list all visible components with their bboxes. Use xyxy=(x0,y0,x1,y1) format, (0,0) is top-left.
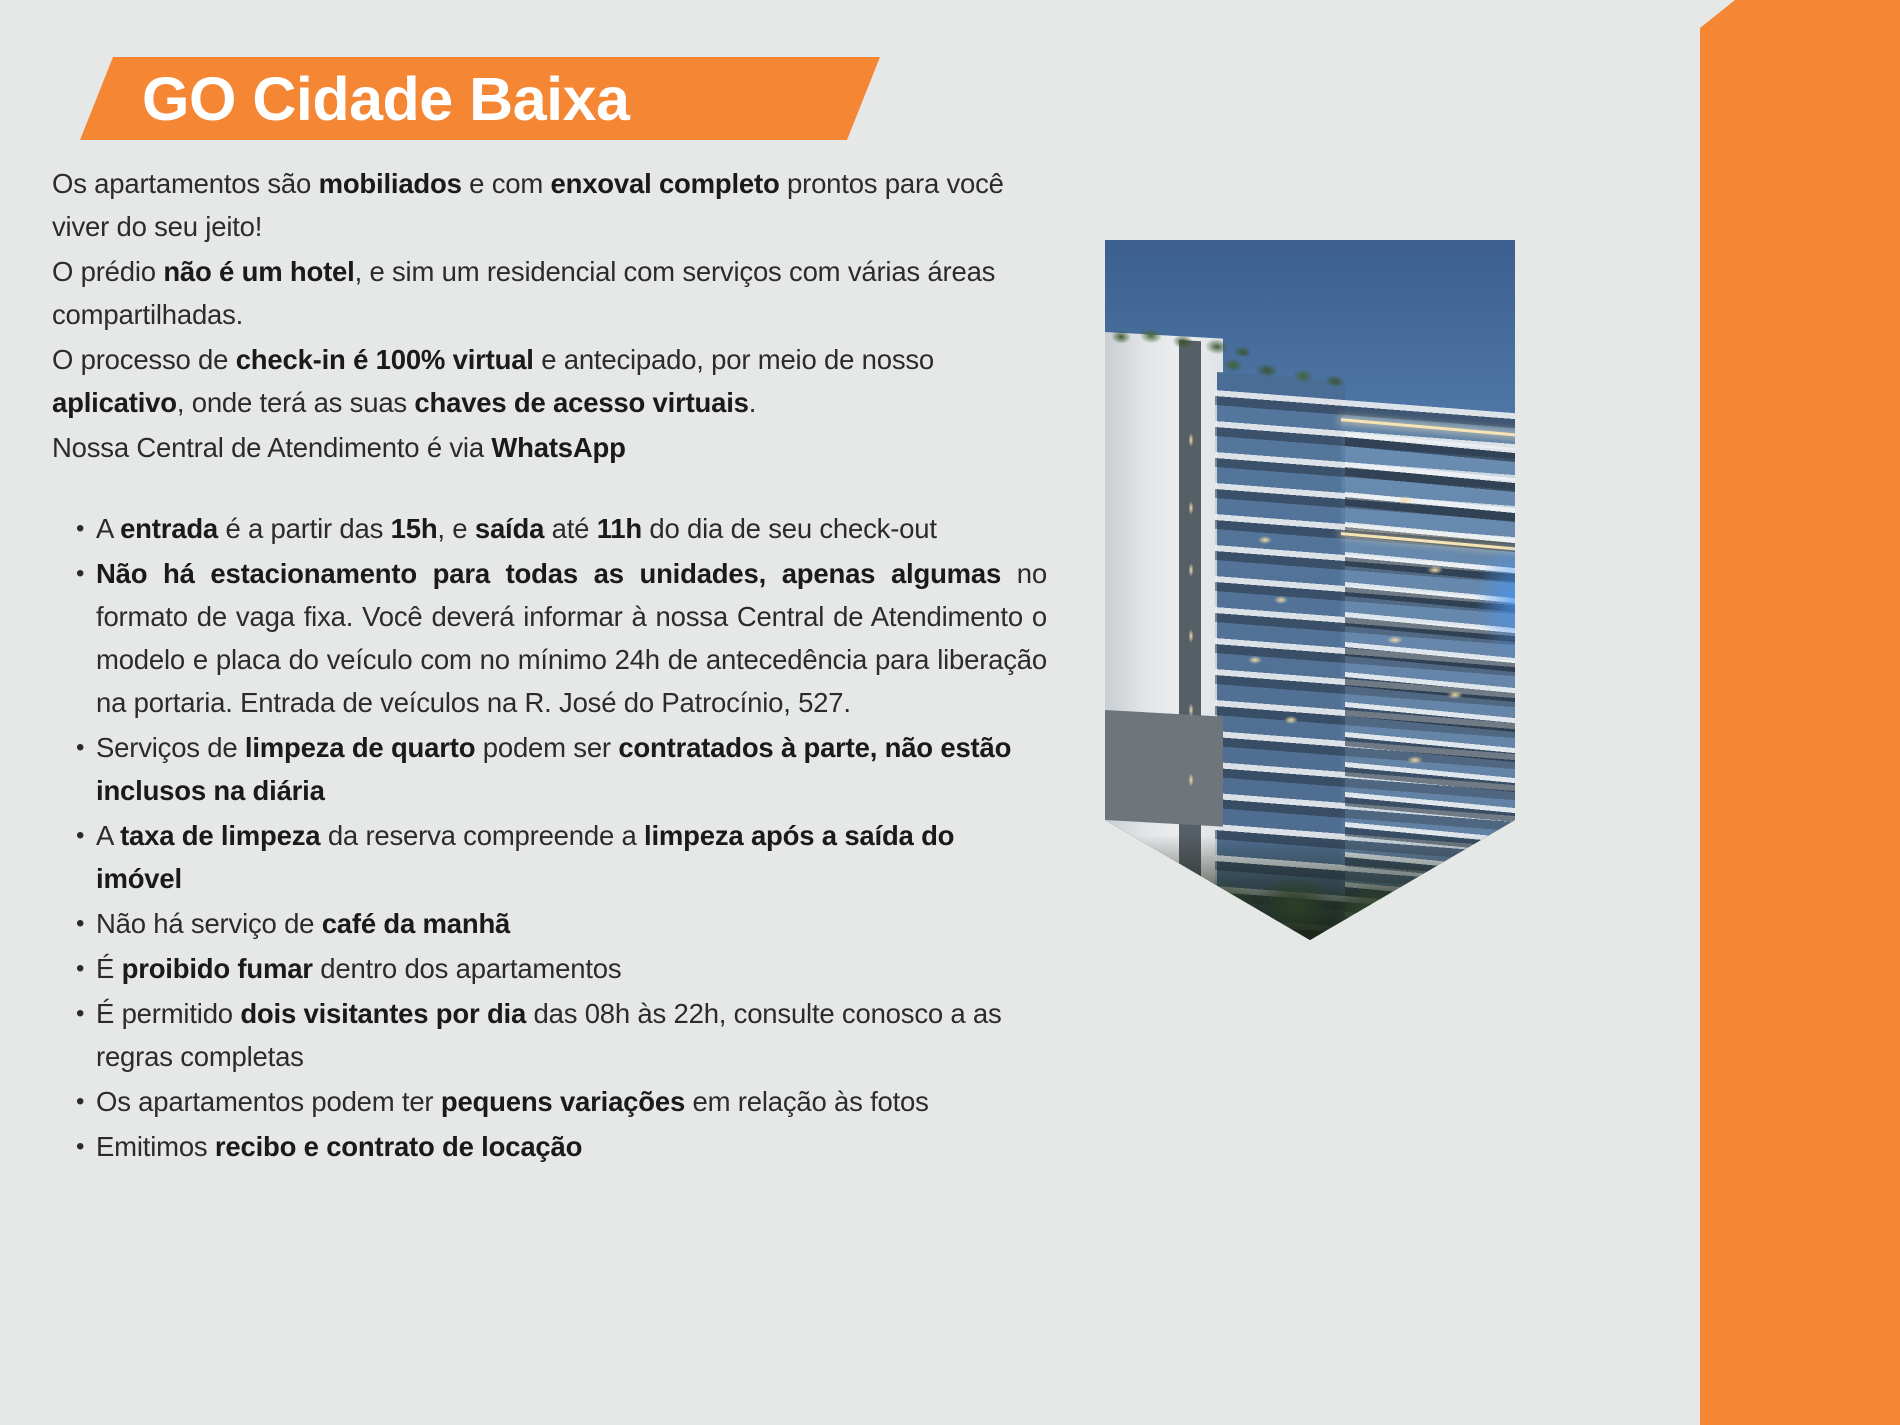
b1-bold-3: saída xyxy=(475,513,544,544)
content-column: Os apartamentos são mobiliados e com enx… xyxy=(52,162,1047,1170)
b8-bold-1: pequens variações xyxy=(441,1086,685,1117)
b9-text-a: Emitimos xyxy=(96,1131,215,1162)
intro-p1-bold-2: enxoval completo xyxy=(551,168,780,199)
orange-side-bar xyxy=(1700,0,1900,1425)
list-item: Não há serviço de café da manhã xyxy=(52,902,1047,945)
intro-paragraph-2: O prédio não é um hotel, e sim um reside… xyxy=(52,250,1047,336)
b1-bold-1: entrada xyxy=(120,513,218,544)
b5-bold-1: café da manhã xyxy=(322,908,510,939)
b8-text-a: Os apartamentos podem ter xyxy=(96,1086,441,1117)
building-photo xyxy=(1105,240,1515,940)
intro-p4-text-a: Nossa Central de Atendimento é via xyxy=(52,432,491,463)
b6-bold-1: proibido fumar xyxy=(122,953,313,984)
b4-bold-1: taxa de limpeza xyxy=(120,820,320,851)
list-item: A taxa de limpeza da reserva compreende … xyxy=(52,814,1047,900)
list-item: A entrada é a partir das 15h, e saída at… xyxy=(52,507,1047,550)
b5-text-a: Não há serviço de xyxy=(96,908,322,939)
list-item: É proibido fumar dentro dos apartamentos xyxy=(52,947,1047,990)
b7-bold-1: dois visitantes por dia xyxy=(240,998,526,1029)
b3-text-a: Serviços de xyxy=(96,732,245,763)
intro-paragraphs: Os apartamentos são mobiliados e com enx… xyxy=(52,162,1047,469)
building-photo-image xyxy=(1105,240,1515,940)
list-item: Não há estacionamento para todas as unid… xyxy=(52,552,1047,724)
intro-p1-bold-1: mobiliados xyxy=(319,168,462,199)
blue-accent-glow xyxy=(1475,540,1515,660)
b6-text-a: É xyxy=(96,953,122,984)
title-banner: GO Cidade Baixa xyxy=(80,57,880,140)
b9-bold-1: recibo e contrato de locação xyxy=(215,1131,582,1162)
b1-text-b: é a partir das xyxy=(218,513,391,544)
list-item: Os apartamentos podem ter pequens variaç… xyxy=(52,1080,1047,1123)
list-item: É permitido dois visitantes por dia das … xyxy=(52,992,1047,1078)
b1-text-c: , e xyxy=(437,513,474,544)
b1-text-e: do dia de seu check-out xyxy=(642,513,937,544)
intro-p4-bold-1: WhatsApp xyxy=(491,432,625,463)
intro-paragraph-4: Nossa Central de Atendimento é via Whats… xyxy=(52,426,1047,469)
b3-bold-1: limpeza de quarto xyxy=(245,732,475,763)
intro-p3-text-c: , onde terá as suas xyxy=(177,387,415,418)
list-item: Serviços de limpeza de quarto podem ser … xyxy=(52,726,1047,812)
b2-bold-1: Não há estacionamento para todas as unid… xyxy=(96,558,1001,589)
b6-text-b: dentro dos apartamentos xyxy=(313,953,622,984)
intro-p2-text-a: O prédio xyxy=(52,256,163,287)
intro-p3-bold-1: check-in é 100% virtual xyxy=(236,344,534,375)
intro-p1-text-b: e com xyxy=(462,168,551,199)
intro-paragraph-3: O processo de check-in é 100% virtual e … xyxy=(52,338,1047,424)
b7-text-a: É permitido xyxy=(96,998,240,1029)
intro-p3-text-a: O processo de xyxy=(52,344,236,375)
foreground-trees xyxy=(1105,790,1515,940)
intro-p3-bold-2: aplicativo xyxy=(52,387,177,418)
b1-bold-2: 15h xyxy=(391,513,438,544)
rules-list: A entrada é a partir das 15h, e saída at… xyxy=(52,507,1047,1168)
intro-p2-bold-1: não é um hotel xyxy=(163,256,354,287)
b8-text-b: em relação às fotos xyxy=(685,1086,929,1117)
intro-p3-text-d: . xyxy=(749,387,756,418)
b3-text-b: podem ser xyxy=(475,732,618,763)
b1-text-a: A xyxy=(96,513,120,544)
list-item: Emitimos recibo e contrato de locação xyxy=(52,1125,1047,1168)
intro-p3-bold-3: chaves de acesso virtuais xyxy=(414,387,748,418)
page-title: GO Cidade Baixa xyxy=(142,64,629,134)
b4-text-b: da reserva compreende a xyxy=(320,820,644,851)
intro-p3-text-b: e antecipado, por meio de nosso xyxy=(534,344,934,375)
intro-p1-text-a: Os apartamentos são xyxy=(52,168,319,199)
b4-text-a: A xyxy=(96,820,120,851)
b1-bold-4: 11h xyxy=(597,513,642,544)
b1-text-d: até xyxy=(544,513,597,544)
intro-paragraph-1: Os apartamentos são mobiliados e com enx… xyxy=(52,162,1047,248)
